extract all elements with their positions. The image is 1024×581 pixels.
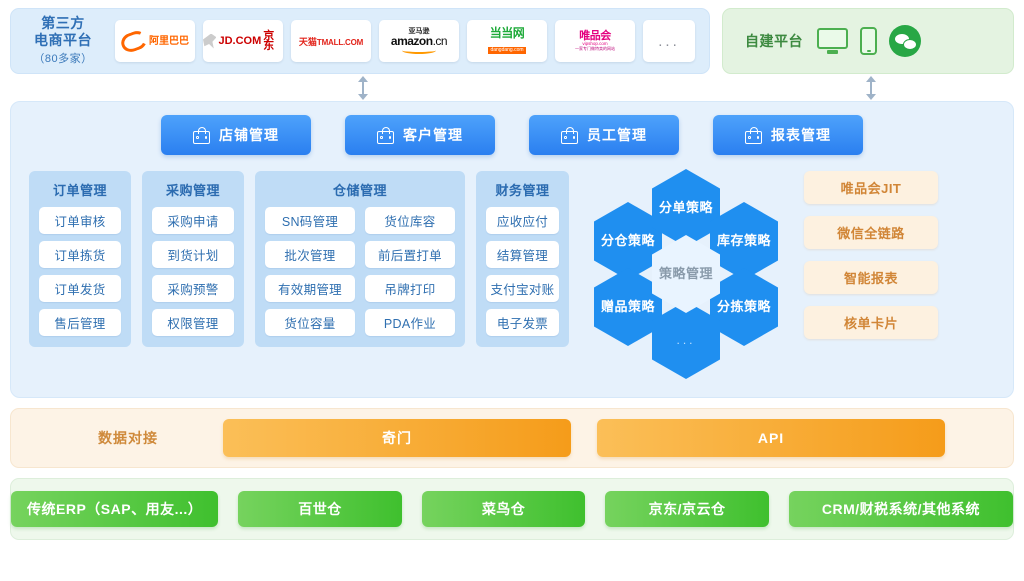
group-title: 订单管理 [39,180,121,199]
mgmt-button-label: 客户管理 [403,125,463,145]
platform-logo-strip: 阿里巴巴 JD.COM 京东 天猫TMALL.COM [109,20,695,62]
more-dots-icon: ... [658,34,680,49]
feature-card-column: 唯品会JIT 微信全链路 智能报表 核单卡片 [804,171,938,339]
strategy-hexagon-cluster: 分仓策略 分单策略 库存策略 赠品策略 分拣策略 ... 策略管理 [594,169,779,359]
platform-title-line1: 第三方 [41,15,85,31]
chip-pre-post-printing[interactable]: 前后置打单 [365,241,455,268]
shopping-bag-icon [193,127,210,144]
amazon-wordmark: amazon [391,34,433,48]
management-button-row: 店铺管理 客户管理 员工管理 报表管理 [29,115,995,155]
shopping-bag-icon [745,127,762,144]
chip-batch-management[interactable]: 批次管理 [265,241,355,268]
amazon-logo-icon: 亚马逊 amazon.cn [391,28,447,54]
platform-title-line2: 电商平台 [34,32,92,48]
logo-tile-alibaba[interactable]: 阿里巴巴 [115,20,195,62]
chip-receivable-payable[interactable]: 应收应付 [486,207,559,234]
data-integration-title: 数据对接 [33,428,223,448]
third-party-platform-box: 第三方 电商平台 （80多家） 阿里巴巴 JD.COM 京东 [10,8,710,74]
system-button-traditional-erp[interactable]: 传统ERP（SAP、用友...） [11,491,218,527]
chip-einvoice[interactable]: 电子发票 [486,309,559,336]
hex-sorting-strategy[interactable]: 分拣策略 [710,268,778,346]
chip-expiry-management[interactable]: 有效期管理 [265,275,355,302]
card-vipshop-jit[interactable]: 唯品会JIT [804,171,938,204]
wechat-bubble-small [903,39,917,50]
chip-purchase-request[interactable]: 采购申请 [152,207,234,234]
card-verification-card[interactable]: 核单卡片 [804,306,938,339]
group-chip-list: 订单审核 订单拣货 订单发货 售后管理 [39,207,121,336]
monitor-icon [817,28,848,55]
chip-purchase-alert[interactable]: 采购预警 [152,275,234,302]
data-integration-panel: 数据对接 奇门 API [10,408,1014,468]
chip-slot-volume[interactable]: 货位容量 [265,309,355,336]
group-title: 财务管理 [486,180,559,199]
data-bar-api[interactable]: API [597,419,945,457]
mgmt-button-label: 报表管理 [771,125,831,145]
tmall-logo-icon: 天猫TMALL.COM [299,35,363,48]
logo-tile-more[interactable]: ... [643,20,695,62]
logo-tile-vipshop[interactable]: 唯品会 vipshop.com 一家专门做特卖的网站 [555,20,635,62]
dangdang-logo-en: dangdang.com [488,47,525,54]
third-party-platform-title: 第三方 电商平台 （80多家） [17,15,109,68]
infographic-page: 第三方 电商平台 （80多家） 阿里巴巴 JD.COM 京东 [0,0,1024,581]
card-wechat-full-chain[interactable]: 微信全链路 [804,216,938,249]
arrow-shaft [362,81,364,95]
amazon-suffix: .cn [433,34,448,48]
alibaba-mark [119,28,150,55]
logo-tile-tmall[interactable]: 天猫TMALL.COM [291,20,371,62]
tmall-logo-en: TMALL.COM [317,38,363,47]
chip-alipay-reconciliation[interactable]: 支付宝对账 [486,275,559,302]
card-smart-report[interactable]: 智能报表 [804,261,938,294]
jd-logo-icon: JD.COM 京东 [203,31,283,51]
group-title: 仓储管理 [265,180,455,199]
hex-strategy-management-center: 策略管理 [652,235,720,313]
hex-gift-strategy[interactable]: 赠品策略 [594,268,662,346]
chip-permission-management[interactable]: 权限管理 [152,309,234,336]
chip-order-shipping[interactable]: 订单发货 [39,275,121,302]
system-button-crm-tax-other[interactable]: CRM/财税系统/其他系统 [789,491,1013,527]
tmall-logo-cn: 天猫 [299,37,317,47]
platform-subtitle: （80多家） [17,51,109,68]
chip-tag-printing[interactable]: 吊牌打印 [365,275,455,302]
alibaba-logo-icon: 阿里巴巴 [121,32,189,51]
jd-logo-en: JD.COM [218,36,261,46]
data-bar-qimen[interactable]: 奇门 [223,419,571,457]
arrow-self-built-to-main [865,76,877,100]
top-row: 第三方 电商平台 （80多家） 阿里巴巴 JD.COM 京东 [10,8,1014,74]
group-title: 采购管理 [152,180,234,199]
chip-order-picking[interactable]: 订单拣货 [39,241,121,268]
mgmt-button-store[interactable]: 店铺管理 [161,115,311,155]
group-chip-list: 采购申请 到货计划 采购预警 权限管理 [152,207,234,336]
connector-arrow-row [10,74,1014,101]
self-built-platform-title: 自建平台 [745,31,803,51]
group-warehouse-management: 仓储管理 SN码管理 货位库容 批次管理 前后置打单 有效期管理 吊牌打印 货位… [255,171,465,347]
arrow-third-party-to-main [357,76,369,100]
chip-slot-capacity[interactable]: 货位库容 [365,207,455,234]
logo-tile-amazon[interactable]: 亚马逊 amazon.cn [379,20,459,62]
group-finance-management: 财务管理 应收应付 结算管理 支付宝对账 电子发票 [476,171,569,347]
jd-logo-cn: 京东 [263,31,283,51]
mgmt-button-label: 店铺管理 [219,125,279,145]
vipshop-logo-icon: 唯品会 vipshop.com 一家专门做特卖的网站 [575,30,615,51]
group-chip-list: SN码管理 货位库容 批次管理 前后置打单 有效期管理 吊牌打印 货位容量 PD… [265,207,455,336]
mgmt-button-label: 员工管理 [587,125,647,145]
chip-pda-operation[interactable]: PDA作业 [365,309,455,336]
arrow-head-down [358,94,368,100]
monitor-screen [817,28,848,49]
chip-arrival-plan[interactable]: 到货计划 [152,241,234,268]
chip-order-review[interactable]: 订单审核 [39,207,121,234]
mgmt-button-employee[interactable]: 员工管理 [529,115,679,155]
phone-icon [860,27,877,55]
group-chip-list: 应收应付 结算管理 支付宝对账 电子发票 [486,207,559,336]
amazon-smile-icon [402,47,436,54]
dangdang-logo-cn: 当当网 [488,27,525,39]
dangdang-logo-icon: 当当网 dangdang.com [488,27,525,55]
external-systems-panel: 传统ERP（SAP、用友...） 百世仓 菜鸟仓 京东/京云仓 CRM/财税系统… [10,478,1014,540]
system-button-baishi-warehouse[interactable]: 百世仓 [238,491,402,527]
alibaba-logo-cn: 阿里巴巴 [149,37,189,46]
group-order-management: 订单管理 订单审核 订单拣货 订单发货 售后管理 [29,171,131,347]
system-button-cainiao-warehouse[interactable]: 菜鸟仓 [422,491,586,527]
jd-dog-mark [203,34,216,49]
group-purchase-management: 采购管理 采购申请 到货计划 采购预警 权限管理 [142,171,244,347]
system-button-jd-warehouse[interactable]: 京东/京云仓 [605,491,769,527]
arrow-shaft [870,81,872,95]
amazon-logo-en: amazon.cn [391,35,447,47]
arrow-head-down [866,94,876,100]
main-system-panel: 店铺管理 客户管理 员工管理 报表管理 [10,101,1014,398]
module-columns: 订单管理 订单审核 订单拣货 订单发货 售后管理 采购管理 采购申请 到货计划 … [29,171,995,359]
vipshop-logo-tagline: 一家专门做特卖的网站 [575,47,615,51]
logo-tile-jd[interactable]: JD.COM 京东 [203,20,283,62]
monitor-stand [827,50,838,54]
self-built-platform-box: 自建平台 [722,8,1014,74]
chip-settlement[interactable]: 结算管理 [486,241,559,268]
chip-sn-code[interactable]: SN码管理 [265,207,355,234]
mgmt-button-report[interactable]: 报表管理 [713,115,863,155]
mgmt-button-customer[interactable]: 客户管理 [345,115,495,155]
self-built-platform-icons [817,25,921,57]
wechat-icon [889,25,921,57]
shopping-bag-icon [377,127,394,144]
shopping-bag-icon [561,127,578,144]
logo-tile-dangdang[interactable]: 当当网 dangdang.com [467,20,547,62]
chip-aftersales[interactable]: 售后管理 [39,309,121,336]
